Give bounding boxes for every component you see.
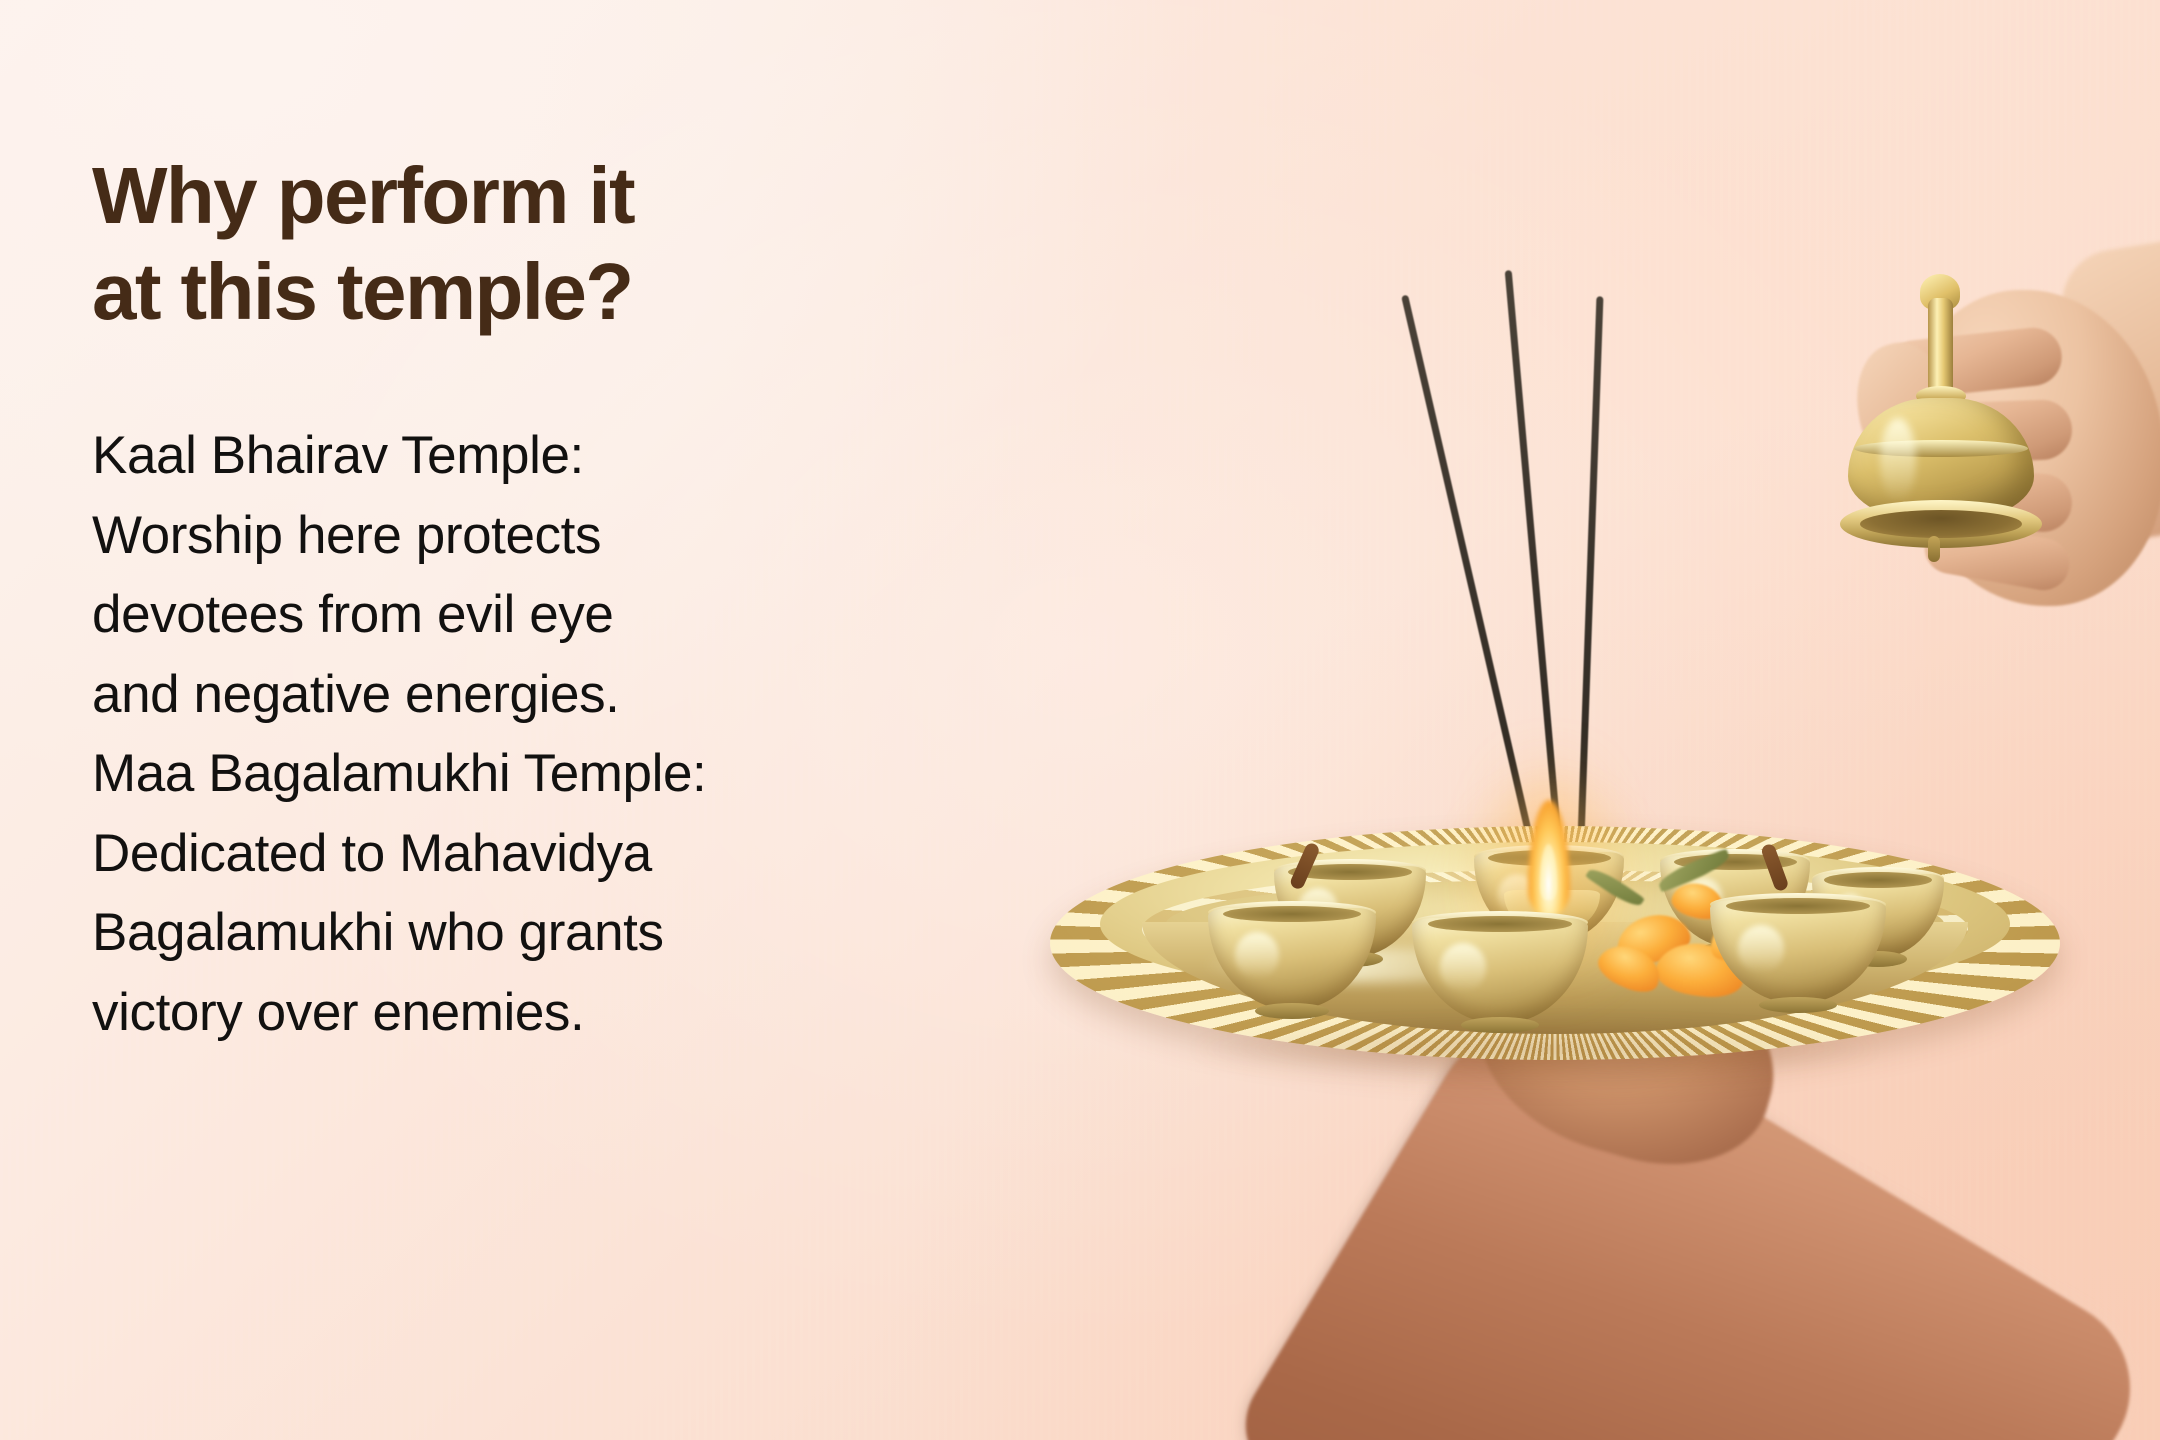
katori-bowl bbox=[1710, 900, 1886, 1004]
bell-handle bbox=[1928, 298, 1953, 394]
thali-drop-shadow bbox=[1190, 1022, 1880, 1076]
brass-bell bbox=[1824, 268, 2054, 568]
slide-canvas: Why perform it at this temple? Kaal Bhai… bbox=[0, 0, 2160, 1440]
katori-bowl bbox=[1412, 918, 1588, 1024]
text-column: Why perform it at this temple? Kaal Bhai… bbox=[92, 148, 1092, 1052]
page-title: Why perform it at this temple? bbox=[92, 148, 1092, 340]
bell-clapper bbox=[1928, 536, 1940, 562]
body-paragraph: Kaal Bhairav Temple: Worship here protec… bbox=[92, 416, 1052, 1052]
bell-mouth bbox=[1860, 510, 2022, 538]
puja-thali-photo bbox=[1060, 0, 2160, 1440]
katori-bowl bbox=[1208, 908, 1376, 1010]
hand-holding-bell bbox=[1824, 268, 2160, 668]
bell-highlight bbox=[1880, 418, 1916, 502]
